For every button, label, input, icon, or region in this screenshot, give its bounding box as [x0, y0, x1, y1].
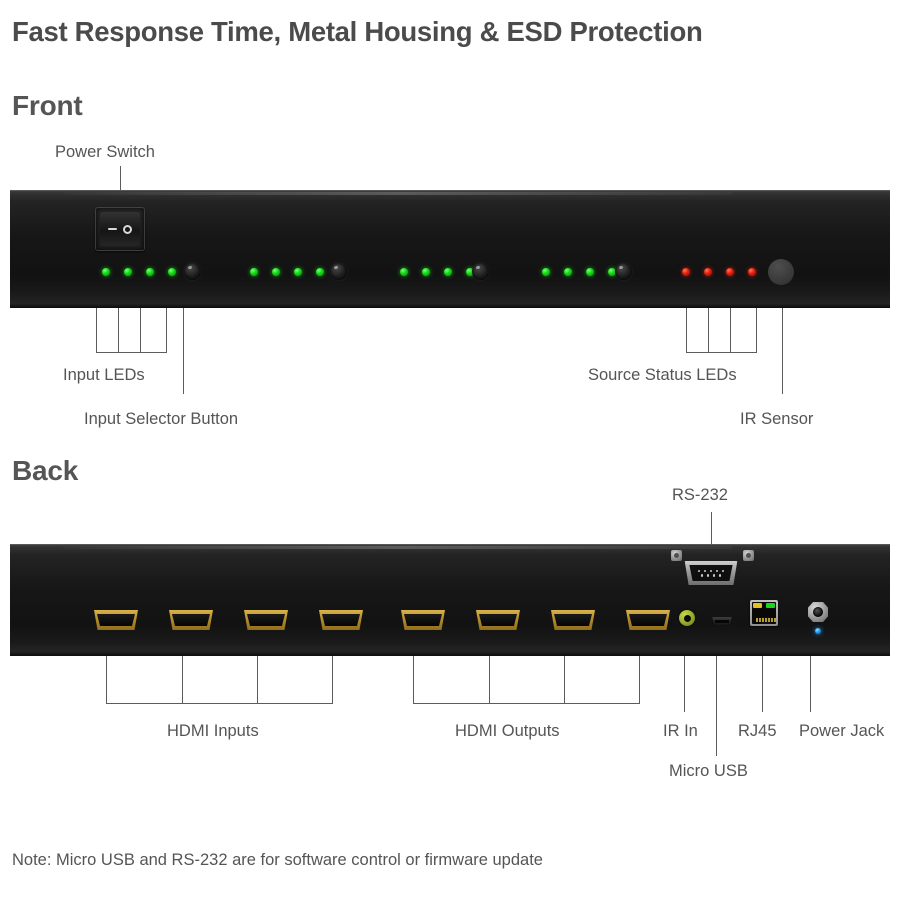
footer-note: Note: Micro USB and RS-232 are for softw…	[12, 851, 543, 870]
output-led	[250, 268, 258, 276]
hdmi-port-opening	[247, 614, 285, 626]
callout-rs232: RS-232	[672, 486, 728, 505]
power-indicator-led	[815, 628, 821, 634]
output-led	[586, 268, 594, 276]
callout-input-leds: Input LEDs	[63, 366, 145, 385]
hdmi-port-opening	[172, 614, 210, 626]
db9-screw-post-left	[671, 550, 682, 561]
hdmi-input-port	[94, 610, 138, 630]
selector-button[interactable]	[615, 263, 632, 280]
bracket-tine	[182, 656, 183, 703]
leader-power-jack	[810, 656, 811, 712]
bracket-tine	[730, 308, 731, 352]
power-switch[interactable]	[95, 207, 145, 251]
hdmi-port-opening	[554, 614, 592, 626]
hdmi-port-opening	[97, 614, 135, 626]
callout-rj45: RJ45	[738, 722, 777, 741]
callout-source-status-leds: Source Status LEDs	[588, 366, 737, 385]
callout-ir-sensor: IR Sensor	[740, 410, 813, 429]
chassis-highlight	[63, 546, 732, 549]
leader-micro-usb	[716, 656, 717, 756]
hdmi-input-port	[169, 610, 213, 630]
micro-usb-port	[712, 617, 732, 625]
section-heading-front: Front	[12, 90, 83, 122]
micro-usb-opening	[715, 620, 729, 624]
bracket-tine	[140, 308, 141, 352]
bracket-tine	[708, 308, 709, 352]
rj45-opening	[752, 602, 776, 624]
hdmi-port-opening	[629, 614, 667, 626]
bracket-tine	[118, 308, 119, 352]
bracket-tine	[257, 656, 258, 703]
product-diagram-page: Fast Response Time, Metal Housing & ESD …	[0, 0, 900, 900]
chassis-highlight	[63, 192, 732, 195]
bracket-source-status-leds	[686, 308, 757, 353]
rs232-db9-port	[683, 561, 739, 585]
leader-ir-sensor	[782, 308, 783, 394]
db9-pin-housing	[688, 565, 734, 581]
callout-power-switch: Power Switch	[55, 143, 155, 162]
hdmi-output-port	[401, 610, 445, 630]
source-status-led	[726, 268, 734, 276]
callout-ir-in: IR In	[663, 722, 698, 741]
rj45-activity-led	[753, 603, 762, 608]
ir-in-jack	[679, 610, 695, 626]
output-led	[542, 268, 550, 276]
source-status-led	[704, 268, 712, 276]
db9-pin-row	[698, 570, 725, 573]
hdmi-output-port	[551, 610, 595, 630]
output-led	[564, 268, 572, 276]
input-led	[102, 268, 110, 276]
bracket-hdmi-outputs	[413, 656, 640, 704]
hdmi-port-opening	[322, 614, 360, 626]
bracket-hdmi-inputs	[106, 656, 333, 704]
power-jack	[808, 602, 828, 622]
hdmi-output-port	[626, 610, 670, 630]
leader-rj45	[762, 656, 763, 712]
callout-micro-usb: Micro USB	[669, 762, 748, 781]
output-led	[444, 268, 452, 276]
output-led	[422, 268, 430, 276]
hdmi-output-port	[476, 610, 520, 630]
bracket-input-leds	[96, 308, 167, 353]
output-led	[400, 268, 408, 276]
selector-button[interactable]	[330, 263, 347, 280]
callout-hdmi-inputs: HDMI Inputs	[167, 722, 259, 741]
hdmi-input-port	[319, 610, 363, 630]
hdmi-port-opening	[404, 614, 442, 626]
input-selector-button[interactable]	[184, 263, 201, 280]
rj45-link-led	[766, 603, 775, 608]
ir-sensor	[768, 259, 794, 285]
output-led	[316, 268, 324, 276]
input-led	[146, 268, 154, 276]
leader-input-selector-button	[183, 308, 184, 394]
power-switch-rocker	[100, 212, 140, 246]
front-panel-chassis	[10, 190, 890, 308]
callout-input-selector-button: Input Selector Button	[84, 410, 238, 429]
hdmi-port-opening	[479, 614, 517, 626]
source-status-led	[682, 268, 690, 276]
db9-screw-post-right	[743, 550, 754, 561]
bracket-tine	[564, 656, 565, 703]
hdmi-input-port	[244, 610, 288, 630]
db9-pin-row	[701, 574, 722, 577]
callout-hdmi-outputs: HDMI Outputs	[455, 722, 560, 741]
section-heading-back: Back	[12, 455, 78, 487]
power-off-mark-icon	[108, 228, 117, 231]
leader-ir-in	[684, 656, 685, 712]
output-led	[272, 268, 280, 276]
callout-power-jack: Power Jack	[799, 722, 884, 741]
input-led	[124, 268, 132, 276]
back-panel-chassis	[10, 544, 890, 656]
source-status-led	[748, 268, 756, 276]
bracket-tine	[489, 656, 490, 703]
input-led	[168, 268, 176, 276]
selector-button[interactable]	[472, 263, 489, 280]
page-title: Fast Response Time, Metal Housing & ESD …	[12, 16, 702, 48]
rj45-contacts	[756, 618, 776, 622]
rj45-port	[750, 600, 778, 626]
power-on-mark-icon	[123, 225, 132, 234]
output-led	[294, 268, 302, 276]
